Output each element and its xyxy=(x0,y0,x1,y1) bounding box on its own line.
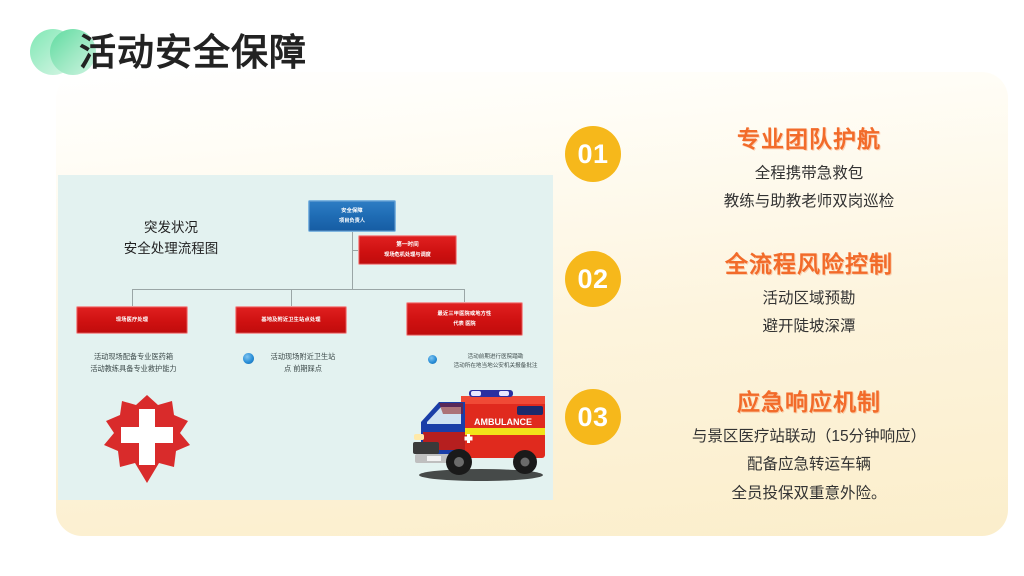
flow-node-hospital-line2: 代表 医院 xyxy=(453,321,475,328)
ambulance-vehicle-icon: AMBULANCE xyxy=(403,380,553,485)
feature-line-3-1: 与景区医疗站联动（15分钟响应） xyxy=(638,424,980,451)
flowchart-caption-3-line2: 活动所在地当地公安机关报备批注 xyxy=(428,362,563,371)
flowchart-caption-2: 活动现场附近卫生站 点 前期踩点 xyxy=(243,351,363,375)
page-title: 活动安全保障 xyxy=(30,22,307,82)
feature-line-1-2: 教练与助教老师双岗巡检 xyxy=(638,189,980,216)
feature-item-1: 01 专业团队护航 全程携带急救包 教练与助教老师双岗巡检 xyxy=(560,126,1010,216)
flowchart-caption-2-line1: 活动现场附近卫生站 xyxy=(243,351,363,363)
flowchart-caption-1-line2: 活动教练具备专业救护能力 xyxy=(66,363,201,375)
flowchart-caption-3: 活动前期进行医院踏勘 活动所在地当地公安机关报备批注 xyxy=(428,353,563,371)
flow-node-onsite-medical-label: 现场医疗处理 xyxy=(116,317,148,324)
flowchart-title-line1: 突发状况 xyxy=(106,218,236,239)
flowchart-board: 突发状况 安全处理流程图 安全保障 项目负责人 第一时间 现场危机处理与调度 现… xyxy=(58,175,553,500)
feature-badge-2: 02 xyxy=(565,251,621,307)
flow-node-first-response-line2: 现场危机处理与调度 xyxy=(384,252,431,259)
connector-branch-2 xyxy=(291,289,292,306)
flow-node-first-response-line1: 第一时间 xyxy=(396,242,418,249)
feature-body-1: 专业团队护航 全程携带急救包 教练与助教老师双岗巡检 xyxy=(638,126,980,216)
flow-node-base-clinic: 基地及附近卫生站点处理 xyxy=(235,306,347,334)
feature-item-3: 03 应急响应机制 与景区医疗站联动（15分钟响应） 配备应急转运车辆 全员投保… xyxy=(560,389,1010,508)
flow-node-hospital: 最近三甲医院或地方性 代表 医院 xyxy=(406,302,523,336)
flowchart-title: 突发状况 安全处理流程图 xyxy=(106,218,236,260)
flowchart-title-line2: 安全处理流程图 xyxy=(106,239,236,260)
flowchart-caption-1: 活动现场配备专业医药箱 活动教练具备专业救护能力 xyxy=(66,351,201,375)
feature-heading-2: 全流程风险控制 xyxy=(638,251,980,279)
ambulance-side-text: AMBULANCE xyxy=(474,417,532,427)
medical-cross-emblem-icon xyxy=(102,393,192,485)
flow-node-base-clinic-label: 基地及附近卫生站点处理 xyxy=(261,317,320,324)
feature-line-2-2: 避开陡坡深潭 xyxy=(638,314,980,341)
feature-body-2: 全流程风险控制 活动区域预勘 避开陡坡深潭 xyxy=(638,251,980,341)
flow-node-safety-lead-line1: 安全保障 xyxy=(341,208,363,215)
flowchart-caption-2-line2: 点 前期踩点 xyxy=(243,363,363,375)
flow-node-hospital-line1: 最近三甲医院或地方性 xyxy=(438,311,492,318)
connector-branch-3 xyxy=(464,289,465,302)
feature-badge-3: 03 xyxy=(565,389,621,445)
feature-heading-3: 应急响应机制 xyxy=(638,389,980,417)
flow-node-safety-lead-line2: 项目负责人 xyxy=(339,218,365,225)
connector-branch-1 xyxy=(132,289,133,306)
slide-root: 活动安全保障 突发状况 安全处理流程图 安全保障 项目负责人 第一时间 现场危机… xyxy=(0,0,1024,576)
flowchart-caption-1-line1: 活动现场配备专业医药箱 xyxy=(66,351,201,363)
page-title-text: 活动安全保障 xyxy=(79,34,307,71)
connector-horizontal-bus xyxy=(132,289,465,290)
flow-node-onsite-medical: 现场医疗处理 xyxy=(76,306,188,334)
feature-line-3-2: 配备应急转运车辆 xyxy=(638,452,980,479)
feature-line-1-1: 全程携带急救包 xyxy=(638,161,980,188)
feature-badge-1: 01 xyxy=(565,126,621,182)
connector-spine-vertical xyxy=(352,250,353,290)
flow-node-safety-lead: 安全保障 项目负责人 xyxy=(308,200,396,232)
flowchart-caption-3-line1: 活动前期进行医院踏勘 xyxy=(428,353,563,362)
feature-line-2-1: 活动区域预勘 xyxy=(638,286,980,313)
feature-heading-1: 专业团队护航 xyxy=(638,126,980,154)
feature-body-3: 应急响应机制 与景区医疗站联动（15分钟响应） 配备应急转运车辆 全员投保双重意… xyxy=(638,389,980,508)
flow-node-first-response: 第一时间 现场危机处理与调度 xyxy=(358,235,457,265)
feature-line-3-3: 全员投保双重意外险。 xyxy=(638,481,980,508)
feature-item-2: 02 全流程风险控制 活动区域预勘 避开陡坡深潭 xyxy=(560,251,1010,341)
